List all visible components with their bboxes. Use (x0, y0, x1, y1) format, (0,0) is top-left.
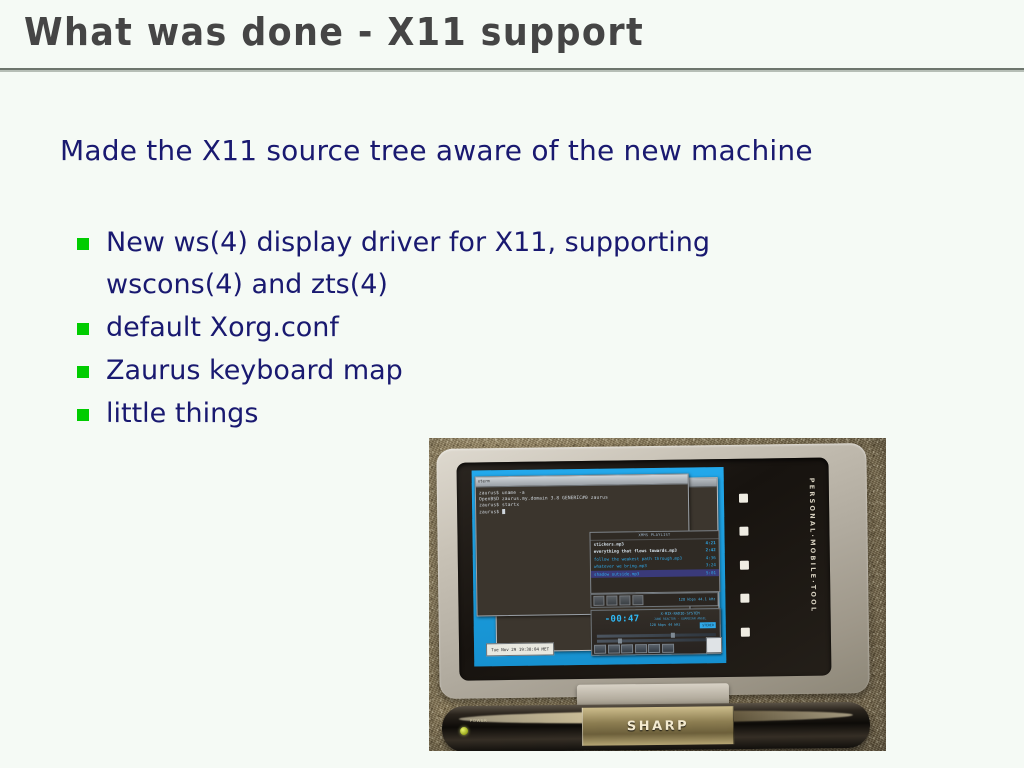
address-book-app-icon (739, 527, 748, 536)
list-item: New ws(4) display driver for X11, suppor… (74, 222, 834, 306)
desktop-clock: Tue Nov 29 19:38:04 MET (486, 642, 554, 656)
title-divider (0, 68, 1024, 72)
lead-statement: Made the X11 source tree aware of the ne… (60, 134, 813, 167)
playlist-track-name: shadow outside.mp3 (594, 570, 639, 578)
player-sliders (597, 633, 716, 643)
list-item: little things (74, 393, 834, 435)
power-led-icon (460, 727, 468, 735)
pause-icon (621, 644, 633, 653)
playlist-control-bar: 128 kbps 44.1 kHz (590, 592, 718, 608)
zaurus-photo: xterm zaurus$ uname -a OpenBSD zaurus.my… (429, 438, 886, 751)
brand-plate: SHARP (582, 706, 734, 746)
home-app-icon (740, 627, 749, 636)
power-label: POWER (470, 718, 487, 723)
list-item: default Xorg.conf (74, 307, 834, 349)
bullet-list: New ws(4) display driver for X11, suppor… (74, 222, 834, 436)
square-bullet-icon (77, 323, 89, 335)
device-tagline: PERSONAL·MOBILE·TOOL (808, 478, 819, 668)
playlist-remove-icon (606, 596, 617, 606)
device-lcd-screen: xterm zaurus$ uname -a OpenBSD zaurus.my… (472, 467, 727, 666)
device-app-icon-strip (732, 469, 757, 661)
zaurus-device-body: xterm zaurus$ uname -a OpenBSD zaurus.my… (436, 443, 869, 699)
sharp-logo: SHARP (627, 718, 689, 734)
slider-knob (671, 633, 675, 638)
next-icon (648, 644, 660, 653)
eject-icon (662, 644, 674, 653)
stop-icon (635, 644, 647, 653)
player-time-readout: -00:47 (605, 614, 640, 624)
xterm-prompt: zaurus$ (479, 510, 502, 515)
playlist-select-icon (619, 595, 630, 605)
xmms-playlist-window: XMMS PLAYLIST stickers.mp3 4:21 everythi… (589, 530, 720, 594)
square-bullet-icon (77, 238, 89, 250)
list-item: Zaurus keyboard map (74, 350, 834, 392)
xmms-player-window: -00:47 X-MIX-RADIO-SYSTEM JUNO REACTOR -… (591, 608, 722, 656)
square-bullet-icon (77, 366, 89, 378)
seek-slider (597, 638, 716, 643)
device-base-bar: POWER SHARP (442, 702, 870, 751)
player-transport-buttons: X (594, 643, 718, 654)
page-title: What was done - X11 support (24, 10, 644, 54)
list-item-label: default Xorg.conf (106, 307, 339, 349)
device-bezel: xterm zaurus$ uname -a OpenBSD zaurus.my… (456, 458, 831, 681)
player-bitrate: 128 kbps 44 kHz (650, 623, 681, 627)
list-item-label: Zaurus keyboard map (106, 350, 403, 392)
volume-slider (597, 633, 716, 638)
xterm-title-label: xterm (478, 476, 490, 485)
calendar-app-icon (738, 493, 747, 502)
play-icon (608, 644, 620, 653)
playlist-add-icon (593, 596, 604, 606)
terminal-cursor (502, 509, 505, 514)
playlist-row-selected: shadow outside.mp3 5:01 (591, 569, 719, 578)
playlist-readout: 128 kbps 44.1 kHz (679, 597, 716, 602)
playlist-track-time: 5:01 (702, 569, 716, 577)
previous-icon (594, 645, 606, 654)
slider-knob (618, 638, 622, 643)
list-item-label: New ws(4) display driver for X11, suppor… (106, 222, 796, 306)
square-bullet-icon (77, 409, 89, 421)
menu-app-icon (740, 594, 749, 603)
player-stereo-indicator: STEREO (700, 622, 716, 628)
playlist-sort-icon (632, 595, 643, 605)
list-item-label: little things (106, 393, 258, 435)
mail-app-icon (739, 560, 748, 569)
slide: What was done - X11 support Made the X11… (0, 0, 1024, 768)
player-track-subtitle: JUNO REACTOR - GUARDIAN ANGEL (644, 616, 717, 621)
desktop-tray-icon (706, 637, 722, 653)
player-display: -00:47 X-MIX-RADIO-SYSTEM JUNO REACTOR -… (592, 609, 720, 635)
